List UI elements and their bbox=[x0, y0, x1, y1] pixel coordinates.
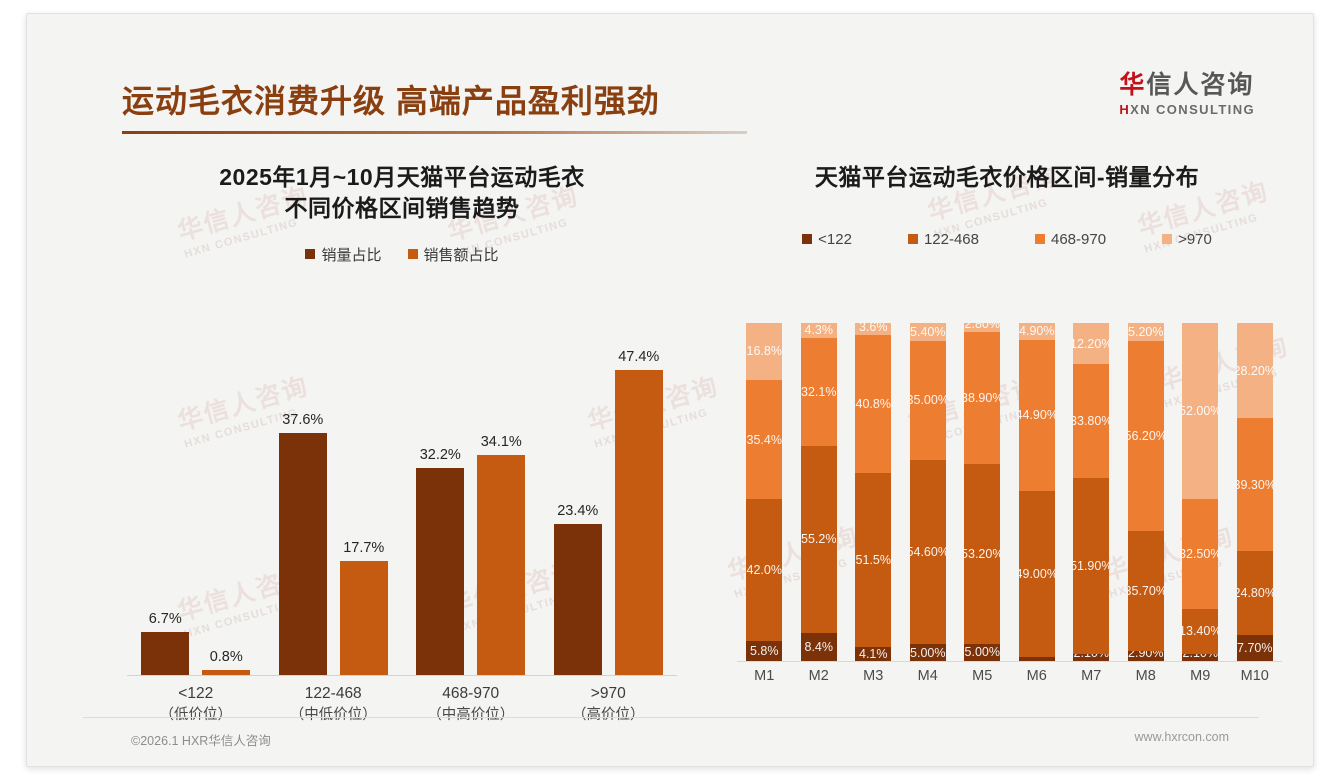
segment-value-label: 24.80% bbox=[1237, 586, 1273, 600]
bar-fill bbox=[416, 468, 464, 675]
slide-canvas: 华信人咨询HXN CONSULTING华信人咨询HXN CONSULTING华信… bbox=[26, 13, 1314, 767]
footer-copyright: ©2026.1 HXR华信人咨询 bbox=[131, 730, 271, 749]
stacked-bar-segment[interactable]: 42.0% bbox=[746, 499, 782, 641]
segment-value-label: 51.5% bbox=[856, 553, 891, 567]
legend-label: 销售额占比 bbox=[424, 244, 499, 265]
x-axis-month-label: M6 bbox=[1019, 668, 1055, 684]
legend-label: <122 bbox=[818, 231, 852, 248]
legend-label: 122-468 bbox=[924, 231, 979, 248]
legend-left-item[interactable]: 销售额占比 bbox=[408, 244, 499, 265]
x-axis-category-main: <122 bbox=[178, 685, 213, 702]
bar-group: 32.2%34.1% bbox=[402, 293, 540, 675]
stacked-bar-segment[interactable]: 5.00% bbox=[910, 644, 946, 661]
bar-value-label: 34.1% bbox=[481, 434, 522, 450]
grouped-bar-chart: 6.7%0.8%<122（低价位）37.6%17.7%122-468（中低价位）… bbox=[127, 294, 677, 676]
stacked-bar-segment[interactable]: 4.90% bbox=[1019, 323, 1055, 340]
stacked-bar-segment[interactable]: 5.20% bbox=[1128, 323, 1164, 341]
stacked-bar-segment[interactable]: 55.2% bbox=[801, 446, 837, 633]
segment-value-label: 53.20% bbox=[964, 547, 1000, 561]
stacked-bar-segment[interactable]: 16.8% bbox=[746, 323, 782, 380]
legend-right-item[interactable]: <122 bbox=[802, 231, 852, 248]
segment-value-label: 32.1% bbox=[801, 385, 836, 399]
stacked-bar-segment[interactable]: 49.00% bbox=[1019, 491, 1055, 656]
logo-chinese-rest: 信人咨询 bbox=[1146, 71, 1254, 99]
stacked-bar[interactable]: 12.20%33.80%51.90%2.10% bbox=[1073, 323, 1109, 661]
x-axis-month-label: M10 bbox=[1237, 668, 1273, 684]
left-chart-legend: 销量占比销售额占比 bbox=[87, 244, 717, 265]
legend-label: >970 bbox=[1178, 231, 1212, 248]
stacked-bar-segment[interactable]: 35.00% bbox=[910, 341, 946, 459]
segment-value-label: 2.10% bbox=[1183, 654, 1218, 660]
bar-fill bbox=[477, 455, 525, 675]
stacked-bar-segment[interactable]: 40.8% bbox=[855, 335, 891, 473]
stacked-bar-segment[interactable]: 2.10% bbox=[1073, 654, 1109, 661]
legend-swatch-icon bbox=[1162, 234, 1172, 244]
stacked-bar-segment[interactable]: 4.1% bbox=[855, 647, 891, 661]
stacked-bar-segment[interactable]: 3.6% bbox=[855, 323, 891, 335]
bar-fill bbox=[202, 670, 250, 675]
segment-value-label: 5.00% bbox=[965, 645, 1000, 659]
x-axis-month-label: M4 bbox=[910, 668, 946, 684]
x-axis-month-label: M5 bbox=[964, 668, 1000, 684]
x-axis-category-label: 122-468（中低价位） bbox=[265, 682, 403, 727]
stacked-bar-segment[interactable]: 12.20% bbox=[1073, 323, 1109, 364]
stacked-bar-segment[interactable]: 4.3% bbox=[801, 323, 837, 338]
stacked-bar-segment[interactable]: 24.80% bbox=[1237, 551, 1273, 635]
bar-fill bbox=[340, 561, 388, 675]
stacked-bar-segment[interactable]: 7.70% bbox=[1237, 635, 1273, 661]
legend-label: 468-970 bbox=[1051, 231, 1106, 248]
legend-left-item[interactable]: 销量占比 bbox=[305, 244, 381, 265]
stacked-bar-segment[interactable]: 44.90% bbox=[1019, 340, 1055, 492]
stacked-bar-segment[interactable]: 8.4% bbox=[801, 633, 837, 661]
stacked-bar-segment[interactable]: 38.90% bbox=[964, 332, 1000, 463]
x-axis-month-label: M3 bbox=[855, 668, 891, 684]
segment-value-label: 4.90% bbox=[1019, 324, 1054, 338]
stacked-bar[interactable]: 3.6%40.8%51.5%4.1% bbox=[855, 323, 891, 661]
stacked-bar-segment[interactable]: 53.20% bbox=[964, 464, 1000, 644]
stacked-bar-segment[interactable]: 5.00% bbox=[964, 644, 1000, 661]
stacked-bar-segment[interactable]: 54.60% bbox=[910, 460, 946, 645]
segment-value-label: 44.90% bbox=[1019, 408, 1055, 422]
bar-value-label: 37.6% bbox=[282, 412, 323, 428]
segment-value-label: 3.6% bbox=[859, 323, 888, 334]
segment-value-label: 4.3% bbox=[805, 323, 834, 337]
segment-value-label: 2.90% bbox=[1128, 651, 1163, 660]
stacked-bar[interactable]: 5.40%35.00%54.60%5.00% bbox=[910, 323, 946, 661]
legend-swatch-icon bbox=[908, 234, 918, 244]
segment-value-label: 13.40% bbox=[1182, 624, 1218, 638]
x-axis-line bbox=[737, 661, 1282, 662]
bar[interactable]: 47.4% bbox=[615, 370, 663, 675]
segment-value-label: 32.50% bbox=[1182, 547, 1218, 561]
x-axis-month-label: M9 bbox=[1182, 668, 1218, 684]
x-axis-line bbox=[127, 675, 677, 676]
bar-group: 23.4%47.4% bbox=[540, 293, 678, 675]
bar-fill bbox=[279, 433, 327, 675]
bar-value-label: 0.8% bbox=[210, 649, 243, 665]
stacked-bar[interactable]: 52.00%32.50%13.40%2.10% bbox=[1182, 323, 1218, 661]
segment-value-label: 40.8% bbox=[856, 397, 891, 411]
right-chart-legend: <122122-468468-970>970 bbox=[727, 231, 1287, 248]
x-axis-month-label: M2 bbox=[801, 668, 837, 684]
stacked-bar-chart: 16.8%35.4%42.0%5.8%M14.3%32.1%55.2%8.4%M… bbox=[737, 322, 1282, 662]
stacked-bar-segment[interactable]: 56.20% bbox=[1128, 341, 1164, 531]
x-axis-category-main: >970 bbox=[591, 685, 626, 702]
stacked-bar-segment[interactable]: 28.20% bbox=[1237, 323, 1273, 418]
segment-value-label: 5.00% bbox=[910, 646, 945, 660]
bar-fill bbox=[141, 632, 189, 675]
segment-value-label: 4.1% bbox=[859, 647, 888, 661]
stacked-bar-segment[interactable]: 2.10% bbox=[1182, 654, 1218, 661]
bar-value-label: 23.4% bbox=[557, 503, 598, 519]
left-chart-title: 2025年1月~10月天猫平台运动毛衣 不同价格区间销售趋势 bbox=[87, 162, 717, 224]
bar-value-label: 17.7% bbox=[343, 540, 384, 556]
segment-value-label: 5.40% bbox=[910, 325, 945, 339]
segment-value-label: 52.00% bbox=[1182, 404, 1218, 418]
bar[interactable]: 0.8% bbox=[202, 670, 250, 675]
segment-value-label: 2.10% bbox=[1074, 654, 1109, 660]
bar-value-label: 47.4% bbox=[618, 349, 659, 365]
x-axis-category-label: <122（低价位） bbox=[127, 682, 265, 727]
bar[interactable]: 17.7% bbox=[340, 561, 388, 675]
legend-swatch-icon bbox=[1035, 234, 1045, 244]
segment-value-label: 8.4% bbox=[805, 640, 834, 654]
legend-right-item[interactable]: 122-468 bbox=[908, 231, 979, 248]
stacked-bar-segment[interactable]: 32.1% bbox=[801, 338, 837, 446]
logo-english-rest: XN CONSULTING bbox=[1130, 102, 1255, 117]
stacked-bar[interactable]: 2.80%38.90%53.20%5.00% bbox=[964, 323, 1000, 661]
segment-value-label: 35.4% bbox=[747, 433, 782, 447]
stacked-bar[interactable]: 28.20%39.30%24.80%7.70% bbox=[1237, 323, 1273, 661]
bar-fill bbox=[615, 370, 663, 675]
segment-value-label: 55.2% bbox=[801, 532, 836, 546]
stacked-bar-segment[interactable]: 35.4% bbox=[746, 380, 782, 500]
stacked-bar-segment[interactable]: 35.70% bbox=[1128, 531, 1164, 652]
bar-group: 6.7%0.8% bbox=[127, 293, 265, 675]
footer-divider bbox=[83, 717, 1259, 718]
segment-value-label: 1.30% bbox=[1019, 657, 1054, 660]
right-chart-panel: 天猫平台运动毛衣价格区间-销量分布 <122122-468468-970>970… bbox=[727, 162, 1287, 722]
stacked-bar-segment[interactable]: 5.40% bbox=[910, 323, 946, 341]
stacked-bar[interactable]: 4.3%32.1%55.2%8.4% bbox=[801, 323, 837, 661]
segment-value-label: 51.90% bbox=[1073, 559, 1109, 573]
x-axis-month-label: M8 bbox=[1128, 668, 1164, 684]
left-chart-title-line1: 2025年1月~10月天猫平台运动毛衣 bbox=[219, 164, 584, 190]
logo-english: HXN CONSULTING bbox=[1119, 102, 1255, 117]
bar-group: 37.6%17.7% bbox=[265, 293, 403, 675]
stacked-bar-segment[interactable]: 33.80% bbox=[1073, 364, 1109, 478]
stacked-bar[interactable]: 5.20%56.20%35.70%2.90% bbox=[1128, 323, 1164, 661]
bar-value-label: 6.7% bbox=[149, 611, 182, 627]
company-logo: 华信人咨询 HXN CONSULTING bbox=[1119, 72, 1255, 117]
stacked-bar-segment[interactable]: 51.5% bbox=[855, 473, 891, 647]
stacked-bar-segment[interactable]: 32.50% bbox=[1182, 499, 1218, 609]
stacked-bar-segment[interactable]: 5.8% bbox=[746, 641, 782, 661]
left-chart-panel: 2025年1月~10月天猫平台运动毛衣 不同价格区间销售趋势 销量占比销售额占比… bbox=[87, 162, 717, 722]
segment-value-label: 33.80% bbox=[1073, 414, 1109, 428]
left-chart-title-line2: 不同价格区间销售趋势 bbox=[87, 193, 717, 224]
bar-fill bbox=[554, 524, 602, 675]
x-axis-category-label: >970（高价位） bbox=[540, 682, 678, 727]
segment-value-label: 49.00% bbox=[1019, 567, 1055, 581]
legend-swatch-icon bbox=[408, 249, 418, 259]
x-axis-month-label: M7 bbox=[1073, 668, 1109, 684]
segment-value-label: 42.0% bbox=[747, 563, 782, 577]
bar[interactable]: 34.1% bbox=[477, 455, 525, 675]
segment-value-label: 56.20% bbox=[1128, 429, 1164, 443]
segment-value-label: 5.8% bbox=[750, 644, 779, 658]
legend-right-item[interactable]: 468-970 bbox=[1035, 231, 1106, 248]
logo-chinese-red: 华 bbox=[1119, 71, 1146, 99]
stacked-bar[interactable]: 16.8%35.4%42.0%5.8% bbox=[746, 323, 782, 661]
title-underline bbox=[122, 131, 747, 134]
bar[interactable]: 32.2% bbox=[416, 468, 464, 675]
stacked-bar-segment[interactable]: 2.80% bbox=[964, 323, 1000, 332]
segment-value-label: 5.20% bbox=[1128, 325, 1163, 339]
segment-value-label: 39.30% bbox=[1237, 478, 1273, 492]
legend-swatch-icon bbox=[305, 249, 315, 259]
segment-value-label: 54.60% bbox=[910, 545, 946, 559]
stacked-bar-segment[interactable]: 1.30% bbox=[1019, 657, 1055, 661]
segment-value-label: 35.00% bbox=[910, 393, 946, 407]
segment-value-label: 28.20% bbox=[1237, 364, 1273, 378]
stacked-bar[interactable]: 4.90%44.90%49.00%1.30% bbox=[1019, 323, 1055, 661]
bar[interactable]: 6.7% bbox=[141, 632, 189, 675]
bar[interactable]: 37.6% bbox=[279, 433, 327, 675]
segment-value-label: 7.70% bbox=[1237, 641, 1272, 655]
x-axis-category-label: 468-970（中高价位） bbox=[402, 682, 540, 727]
segment-value-label: 12.20% bbox=[1073, 337, 1109, 351]
stacked-bar-segment[interactable]: 39.30% bbox=[1237, 418, 1273, 551]
legend-swatch-icon bbox=[802, 234, 812, 244]
stacked-bar-segment[interactable]: 52.00% bbox=[1182, 323, 1218, 499]
segment-value-label: 35.70% bbox=[1128, 584, 1164, 598]
bar[interactable]: 23.4% bbox=[554, 524, 602, 675]
stacked-bar-segment[interactable]: 13.40% bbox=[1182, 609, 1218, 654]
legend-label: 销量占比 bbox=[321, 244, 381, 265]
stacked-bar-segment[interactable]: 51.90% bbox=[1073, 478, 1109, 653]
logo-chinese: 华信人咨询 bbox=[1119, 72, 1255, 99]
stacked-bar-segment[interactable]: 2.90% bbox=[1128, 651, 1164, 661]
page-title: 运动毛衣消费升级 高端产品盈利强劲 bbox=[122, 76, 660, 122]
x-axis-category-main: 122-468 bbox=[305, 685, 362, 702]
x-axis-category-main: 468-970 bbox=[442, 685, 499, 702]
segment-value-label: 2.80% bbox=[965, 323, 1000, 331]
bar-value-label: 32.2% bbox=[420, 447, 461, 463]
legend-right-item[interactable]: >970 bbox=[1162, 231, 1212, 248]
right-chart-title: 天猫平台运动毛衣价格区间-销量分布 bbox=[727, 162, 1287, 193]
segment-value-label: 16.8% bbox=[747, 344, 782, 358]
footer-website: www.hxrcon.com bbox=[1135, 730, 1229, 744]
segment-value-label: 38.90% bbox=[964, 391, 1000, 405]
x-axis-month-label: M1 bbox=[746, 668, 782, 684]
logo-english-red: H bbox=[1119, 102, 1130, 117]
